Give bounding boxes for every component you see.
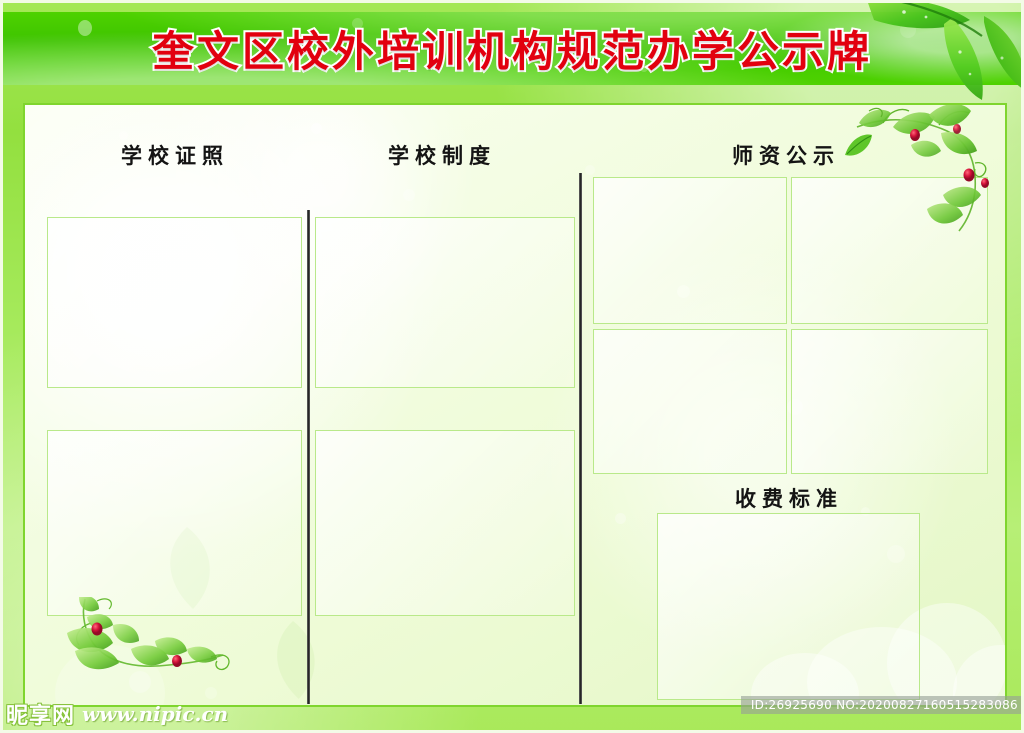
content-box-teacher-2[interactable] [791, 177, 988, 324]
vertical-divider-right [579, 173, 582, 704]
content-box-fee-1[interactable] [657, 513, 920, 700]
section-title-fee-standards: 收费标准 [735, 483, 843, 513]
watermark-url: www.nipic.cn [82, 702, 228, 726]
content-box-rule-1[interactable] [315, 217, 575, 388]
section-title-teacher-disclosure: 师资公示 [732, 140, 840, 170]
bubble [615, 513, 626, 524]
page-title: 奎文区校外培训机构规范办学公示牌 [0, 12, 1024, 85]
content-box-rule-2[interactable] [315, 430, 575, 616]
ghost-leaf-icon [255, 617, 331, 703]
content-box-teacher-4[interactable] [791, 329, 988, 474]
content-box-cert-1[interactable] [47, 217, 302, 388]
content-box-teacher-3[interactable] [593, 329, 787, 474]
small-leaf-icon [843, 133, 873, 159]
image-id-strip: ID:26925690 NO:20200827160515283086 [741, 696, 1024, 714]
section-title-school-regulations: 学校制度 [388, 140, 496, 170]
section-title-school-certificates: 学校证照 [121, 140, 229, 170]
bubble [403, 189, 415, 201]
vertical-divider-left [307, 210, 310, 704]
watermark-logo: 昵享网 [6, 698, 75, 730]
bubble [585, 165, 595, 175]
content-box-teacher-1[interactable] [593, 177, 787, 324]
content-box-cert-2[interactable] [47, 430, 302, 616]
watermark-nipic: 昵享网 www.nipic.cn [0, 695, 360, 733]
poster: 奎文区校外培训机构规范办学公示牌 学校证照 学校制度 师资公示 [0, 0, 1024, 733]
bubble [119, 131, 128, 140]
bubble [311, 123, 322, 134]
school-name-footer: xxxxxxxxxx教育培训学校 [714, 725, 1016, 733]
board-panel: 学校证照 学校制度 师资公示 收费标准 [23, 103, 1007, 707]
